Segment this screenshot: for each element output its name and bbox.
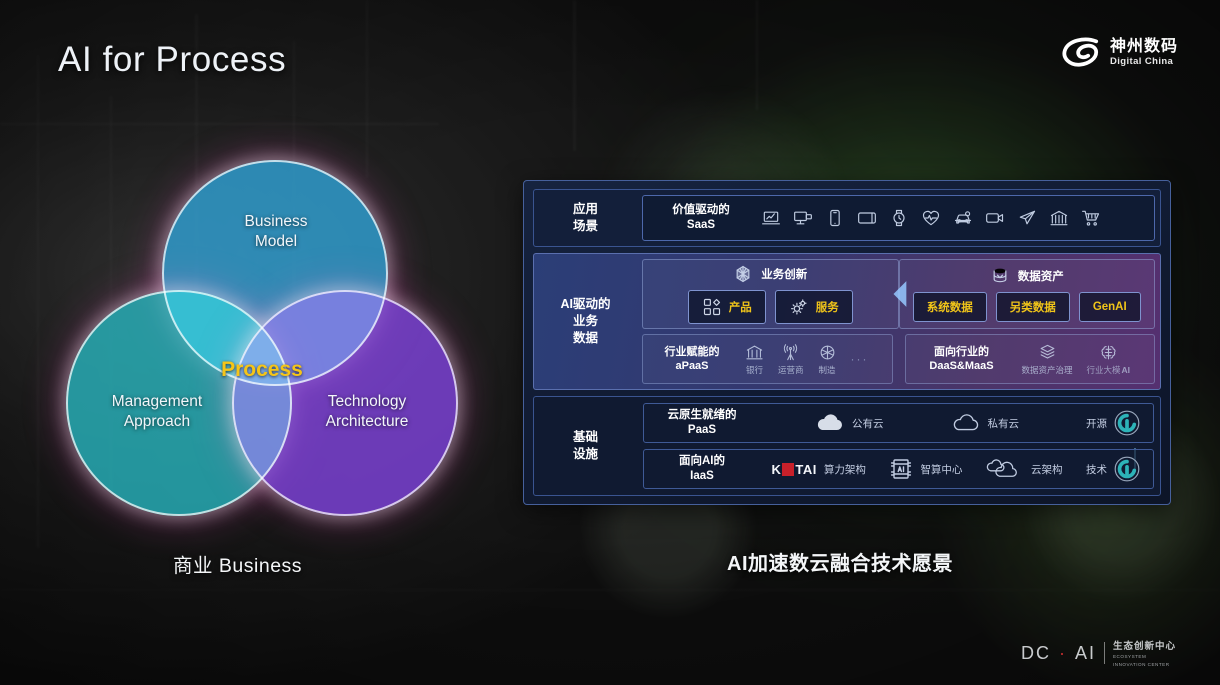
iaas-item-kutai: K TAI 算力架构	[772, 462, 866, 477]
chevron-left-arrow-icon	[888, 279, 910, 309]
heart-pulse-icon	[921, 208, 941, 228]
row-label-infrastructure: 基础 设施	[534, 397, 637, 495]
iaas-tag: 面向AI的 IaaS	[656, 454, 748, 484]
venn-diagram: Business Model Management Approach Techn…	[66, 160, 458, 518]
gears-icon	[789, 297, 809, 317]
row-label-ai-driven-business-data: AI驱动的 业务 数据	[534, 254, 637, 389]
laptop-chart-icon	[761, 208, 781, 228]
tablet-icon	[857, 208, 877, 228]
dc-ai-watermark: DC · AI 生态创新中心 ECOSYSTEM INNOVATION CENT…	[1021, 638, 1176, 669]
paas-tag: 云原生就绪的 PaaS	[656, 408, 748, 438]
watermark-dot: ·	[1059, 643, 1067, 664]
smartwatch-icon	[889, 208, 909, 228]
industry-llm-ai-badge: AI	[1122, 365, 1131, 375]
panel-row-infrastructure: 基础 设施 云原生就绪的 PaaS 公有云	[533, 396, 1161, 496]
chip-system-data[interactable]: 系统数据	[913, 292, 987, 322]
apaas-item-carrier: 运营商	[778, 343, 804, 376]
business-innovation-block: 业务创新 产品	[642, 259, 899, 329]
ai-server-rack-icon	[889, 457, 913, 481]
ai-driven-top-blocks: 业务创新 产品	[642, 259, 1155, 329]
watermark-cn: 生态创新中心	[1113, 638, 1176, 652]
polyhedron-icon	[733, 264, 753, 284]
paas-ring-label: 开源	[1086, 416, 1107, 431]
antenna-tower-icon	[781, 343, 800, 362]
brain-network-icon	[1099, 343, 1118, 362]
data-asset-block: 数据资产 系统数据 另类数据 GenAI	[899, 259, 1156, 329]
application-scenarios-body: 价值驱动的 SaaS	[637, 190, 1160, 246]
paas-row: 云原生就绪的 PaaS 公有云 私有云	[643, 403, 1154, 443]
watermark-text: 生态创新中心 ECOSYSTEM INNOVATION CENTER	[1113, 638, 1176, 669]
business-innovation-head: 业务创新	[733, 264, 807, 284]
layered-data-icon	[1038, 343, 1057, 362]
multi-cloud-icon	[986, 458, 1024, 480]
page-title: AI for Process	[58, 40, 286, 80]
apaas-block: 行业赋能的 aPaaS 银行 运营商	[642, 334, 893, 384]
caption-left: 商业 Business	[173, 549, 302, 578]
architecture-panel: 应用 场景 价值驱动的 SaaS	[523, 180, 1171, 505]
chip-product[interactable]: 产品	[688, 290, 766, 324]
ai-driven-bottom-blocks: 行业赋能的 aPaaS 银行 运营商	[642, 334, 1155, 384]
watermark-en-line2: INNOVATION CENTER	[1113, 662, 1176, 669]
smartphone-icon	[825, 208, 845, 228]
camcorder-icon	[985, 208, 1005, 228]
watermark-dc: DC	[1021, 643, 1051, 664]
cloud-filled-icon	[815, 412, 845, 434]
brand-name-cn: 神州数码	[1110, 39, 1178, 56]
iaas-item-cloud-architecture: 云架构	[986, 458, 1063, 480]
chip-genai[interactable]: GenAI	[1079, 292, 1141, 322]
apaas-item-bank: 银行	[745, 343, 764, 376]
data-asset-chips: 系统数据 另类数据 GenAI	[913, 292, 1141, 322]
panel-row-application-scenarios: 应用 场景 价值驱动的 SaaS	[533, 189, 1161, 247]
openatom-ring-icon	[1113, 409, 1141, 437]
paas-item-public-cloud: 公有云	[815, 412, 884, 434]
caption-right: AI加速数云融合技术愿景	[727, 547, 953, 576]
scenario-icon-row	[757, 208, 1101, 228]
saas-tag: 价值驱动的 SaaS	[653, 203, 749, 233]
row-label-application-scenarios: 应用 场景	[534, 190, 637, 246]
cloud-outline-icon	[951, 412, 981, 434]
data-asset-head: 数据资产	[990, 266, 1064, 286]
shopping-cart-icon	[1081, 208, 1101, 228]
blocks-icon	[702, 297, 722, 317]
iaas-row: 面向AI的 IaaS K TAI 算力架构	[643, 449, 1154, 489]
venn-label-process: Process	[192, 358, 332, 382]
business-innovation-chips: 产品 服务	[688, 290, 853, 324]
iaas-ring-label: 技术	[1086, 462, 1107, 477]
brand-logo: 神州数码 Digital China	[1061, 36, 1178, 70]
infrastructure-body: 云原生就绪的 PaaS 公有云 私有云	[637, 397, 1160, 495]
daas-item-data-governance: 数据资产治理	[1022, 343, 1073, 376]
car-icon	[953, 208, 973, 228]
digital-china-swirl-logo-icon	[1061, 36, 1101, 70]
brand-name-en: Digital China	[1110, 57, 1178, 67]
iaas-item-ai-compute-center: 智算中心	[889, 457, 962, 481]
chip-service[interactable]: 服务	[775, 290, 853, 324]
kutai-logo-block	[782, 463, 794, 476]
openatom-ring-icon	[1113, 455, 1141, 483]
saas-scenario-box: 价值驱动的 SaaS	[642, 195, 1155, 241]
daas-maas-tag: 面向行业的 DaaS&MaaS	[916, 345, 1008, 374]
venn-circle-technology-architecture	[232, 290, 458, 516]
panel-row-ai-driven-business-data: AI驱动的 业务 数据 业务创新	[533, 253, 1161, 390]
ai-driven-body: 业务创新 产品	[637, 254, 1160, 389]
watermark-ai: AI	[1075, 643, 1096, 664]
apaas-ellipsis: ···	[851, 352, 869, 366]
watermark-en-line1: ECOSYSTEM	[1113, 654, 1176, 661]
bank-icon	[745, 343, 764, 362]
kutai-logo: K TAI	[772, 462, 817, 477]
airplane-icon	[1017, 208, 1037, 228]
apaas-tag: 行业赋能的 aPaaS	[653, 345, 731, 374]
database-icon	[990, 266, 1010, 286]
bank-icon	[1049, 208, 1069, 228]
daas-item-industry-llm: 行业大模 AI	[1087, 343, 1131, 376]
apaas-item-manufacturing: 制造	[818, 343, 837, 376]
paas-item-private-cloud: 私有云	[951, 412, 1020, 434]
desktop-monitor-icon	[793, 208, 813, 228]
manufacturing-gear-icon	[818, 343, 837, 362]
watermark-divider	[1104, 642, 1105, 664]
daas-maas-block: 面向行业的 DaaS&MaaS 数据资产治理	[905, 334, 1156, 384]
chip-alternative-data[interactable]: 另类数据	[996, 292, 1070, 322]
